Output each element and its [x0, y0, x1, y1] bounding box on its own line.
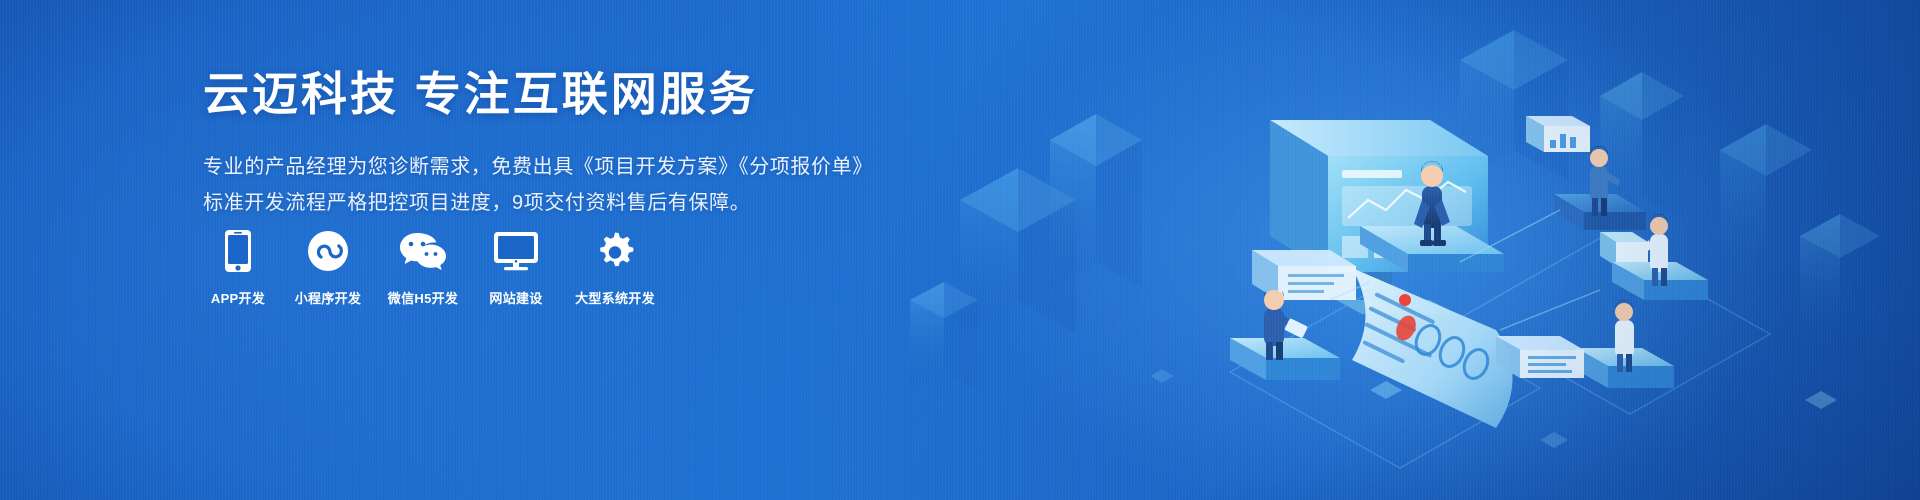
hero-content: 云迈科技 专注互联网服务 专业的产品经理为您诊断需求，免费出具《项目开发方案》《… — [203, 66, 963, 222]
service-label: 大型系统开发 — [575, 288, 655, 307]
subtitle-line-2: 标准开发流程严格把控项目进度，9项交付资料售后有保障。 — [203, 185, 963, 221]
hero-banner: 云迈科技 专注互联网服务 专业的产品经理为您诊断需求，免费出具《项目开发方案》《… — [0, 0, 1920, 500]
service-item-website[interactable]: 网站建设 — [481, 228, 551, 307]
service-label: APP开发 — [211, 288, 265, 307]
service-label: 微信H5开发 — [388, 288, 458, 307]
illustration-isometric-tech — [900, 0, 1920, 500]
service-list: APP开发 小程序开发 微信 — [203, 228, 661, 307]
subtitle-line-1: 专业的产品经理为您诊断需求，免费出具《项目开发方案》《分项报价单》 — [203, 149, 963, 185]
service-item-mini-program[interactable]: 小程序开发 — [291, 228, 365, 307]
monitor-icon — [493, 228, 539, 274]
page-title: 云迈科技 专注互联网服务 — [203, 66, 963, 123]
wechat-icon — [399, 228, 447, 274]
service-item-app[interactable]: APP开发 — [203, 228, 273, 307]
mobile-phone-icon — [224, 228, 252, 274]
service-label: 小程序开发 — [295, 288, 362, 307]
gear-icon — [594, 228, 636, 274]
service-item-large-system[interactable]: 大型系统开发 — [569, 228, 661, 307]
service-label: 网站建设 — [489, 288, 542, 307]
hero-subtitle: 专业的产品经理为您诊断需求，免费出具《项目开发方案》《分项报价单》 标准开发流程… — [203, 149, 963, 222]
mini-program-icon — [307, 228, 349, 274]
service-item-wechat-h5[interactable]: 微信H5开发 — [383, 228, 463, 307]
